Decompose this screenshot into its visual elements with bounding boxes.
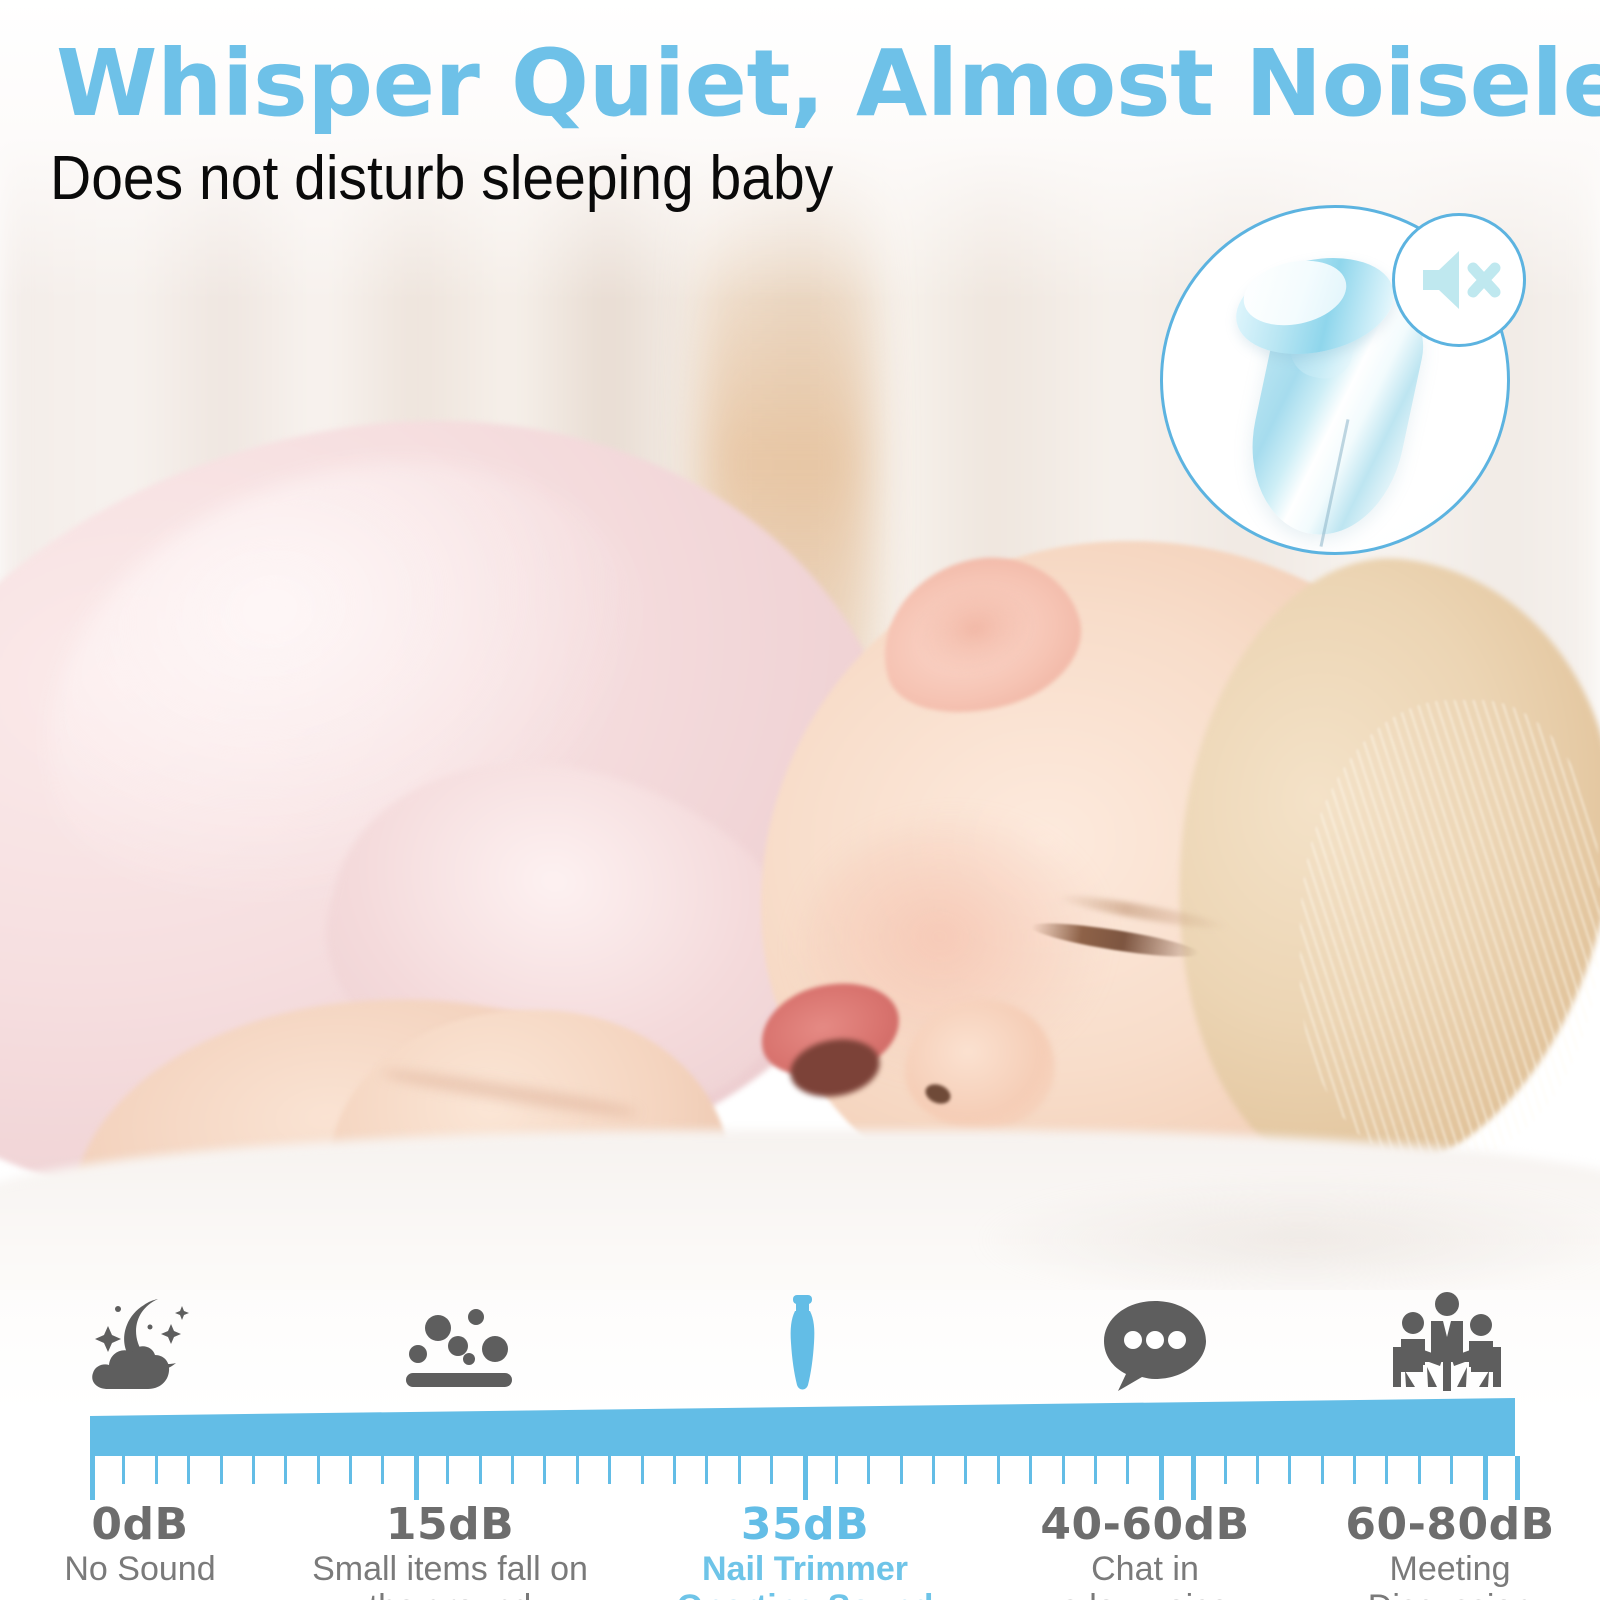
scale-tick-minor [608, 1456, 611, 1484]
scale-label-0db: 0dB No Sound [0, 1502, 305, 1588]
scale-tick-minor [252, 1456, 255, 1484]
moon-cloud-icon [88, 1293, 192, 1398]
scale-tick-minor [1418, 1456, 1421, 1484]
scale-tick-minor [155, 1456, 158, 1484]
scale-db-value: 15dB [285, 1502, 615, 1548]
scale-tick-minor [284, 1456, 287, 1484]
scale-tick-minor [900, 1456, 903, 1484]
scale-label-40-60db: 40-60dB Chat in a low voice [980, 1502, 1310, 1600]
scale-tick-minor [673, 1456, 676, 1484]
scale-tick-minor [1450, 1456, 1453, 1484]
scale-tick-minor [511, 1456, 514, 1484]
scale-tick-minor [1062, 1456, 1065, 1484]
scale-db-value: 35dB [640, 1502, 970, 1548]
scale-desc-line-1: Chat in [980, 1550, 1310, 1588]
decibel-scale-ticks [90, 1456, 1515, 1502]
scale-icon-row [0, 1280, 1600, 1398]
scale-db-value: 60-80dB [1285, 1502, 1600, 1548]
scale-db-description: Small items fall on the ground [285, 1550, 615, 1600]
scale-tick-minor [576, 1456, 579, 1484]
scale-tick-minor [705, 1456, 708, 1484]
mute-speaker-icon [1417, 246, 1501, 314]
scale-tick-minor [446, 1456, 449, 1484]
decibel-scale-bar [90, 1398, 1515, 1456]
mute-badge [1392, 213, 1526, 347]
scale-tick-minor [317, 1456, 320, 1484]
scale-db-description: No Sound [0, 1550, 305, 1588]
scale-db-value: 0dB [0, 1502, 305, 1548]
decibel-scale: 0dB No Sound 15dB Small items fall on th… [0, 1280, 1600, 1600]
scale-tick-minor [381, 1456, 384, 1484]
scale-db-value: 40-60dB [980, 1502, 1310, 1548]
product-feature-poster: Whisper Quiet, Almost Noiseless Does not… [0, 0, 1600, 1600]
scale-tick-minor [122, 1456, 125, 1484]
scale-desc-line-1: Nail Trimmer [640, 1550, 970, 1588]
scale-tick-minor [1288, 1456, 1291, 1484]
scale-tick-minor [835, 1456, 838, 1484]
scale-tick-major [803, 1456, 808, 1500]
scale-tick-minor [220, 1456, 223, 1484]
speech-bubble-icon [1100, 1297, 1210, 1398]
product-inset [1160, 205, 1510, 555]
scale-db-description: Nail Trimmer Operting Sound [640, 1550, 970, 1600]
scale-desc-line-1: Small items fall on [285, 1550, 615, 1588]
scale-tick-minor [543, 1456, 546, 1484]
scale-tick-minor [997, 1456, 1000, 1484]
scale-tick-minor [770, 1456, 773, 1484]
scale-tick-minor [867, 1456, 870, 1484]
scale-tick-minor [1385, 1456, 1388, 1484]
scale-tick-minor [479, 1456, 482, 1484]
meeting-people-icon [1391, 1291, 1503, 1398]
scale-tick-minor [641, 1456, 644, 1484]
scale-tick-minor [1353, 1456, 1356, 1484]
scale-desc-line-1: No Sound [0, 1550, 305, 1588]
scale-label-35db: 35dB Nail Trimmer Operting Sound [640, 1502, 970, 1600]
scale-desc-line-2: Discussion [1285, 1588, 1600, 1600]
scale-tick-minor [1126, 1456, 1129, 1484]
scale-tick-minor [964, 1456, 967, 1484]
scale-tick-major [414, 1456, 419, 1500]
scale-tick-minor [1224, 1456, 1227, 1484]
scale-tick-major [90, 1456, 95, 1500]
scale-tick-minor [187, 1456, 190, 1484]
scale-tick-minor [1321, 1456, 1324, 1484]
scale-tick-minor [932, 1456, 935, 1484]
scale-desc-line-2: the ground [285, 1588, 615, 1600]
scale-tick-minor [1094, 1456, 1097, 1484]
nail-trimmer-icon [782, 1295, 822, 1398]
scale-tick-major [1159, 1456, 1164, 1500]
scale-tick-minor [1256, 1456, 1259, 1484]
scale-tick-minor [738, 1456, 741, 1484]
scale-desc-line-1: Meeting [1285, 1550, 1600, 1588]
baby-hair-wisps [1300, 700, 1600, 1160]
scale-tick-major [1483, 1456, 1488, 1500]
scale-tick-major [1191, 1456, 1196, 1500]
page-title: Whisper Quiet, Almost Noiseless [56, 38, 1556, 130]
page-subtitle: Does not disturb sleeping baby [50, 148, 833, 210]
scale-tick-minor [1029, 1456, 1032, 1484]
scale-label-15db: 15dB Small items fall on the ground [285, 1502, 615, 1600]
scale-tick-major [1515, 1456, 1520, 1500]
scale-tick-minor [349, 1456, 352, 1484]
scale-desc-line-2: a low voice [980, 1588, 1310, 1600]
scale-desc-line-2: Operting Sound [640, 1588, 970, 1600]
scale-db-description: Chat in a low voice [980, 1550, 1310, 1600]
falling-particles-icon [400, 1301, 518, 1398]
scale-db-description: Meeting Discussion [1285, 1550, 1600, 1600]
scale-label-60-80db: 60-80dB Meeting Discussion [1285, 1502, 1600, 1600]
